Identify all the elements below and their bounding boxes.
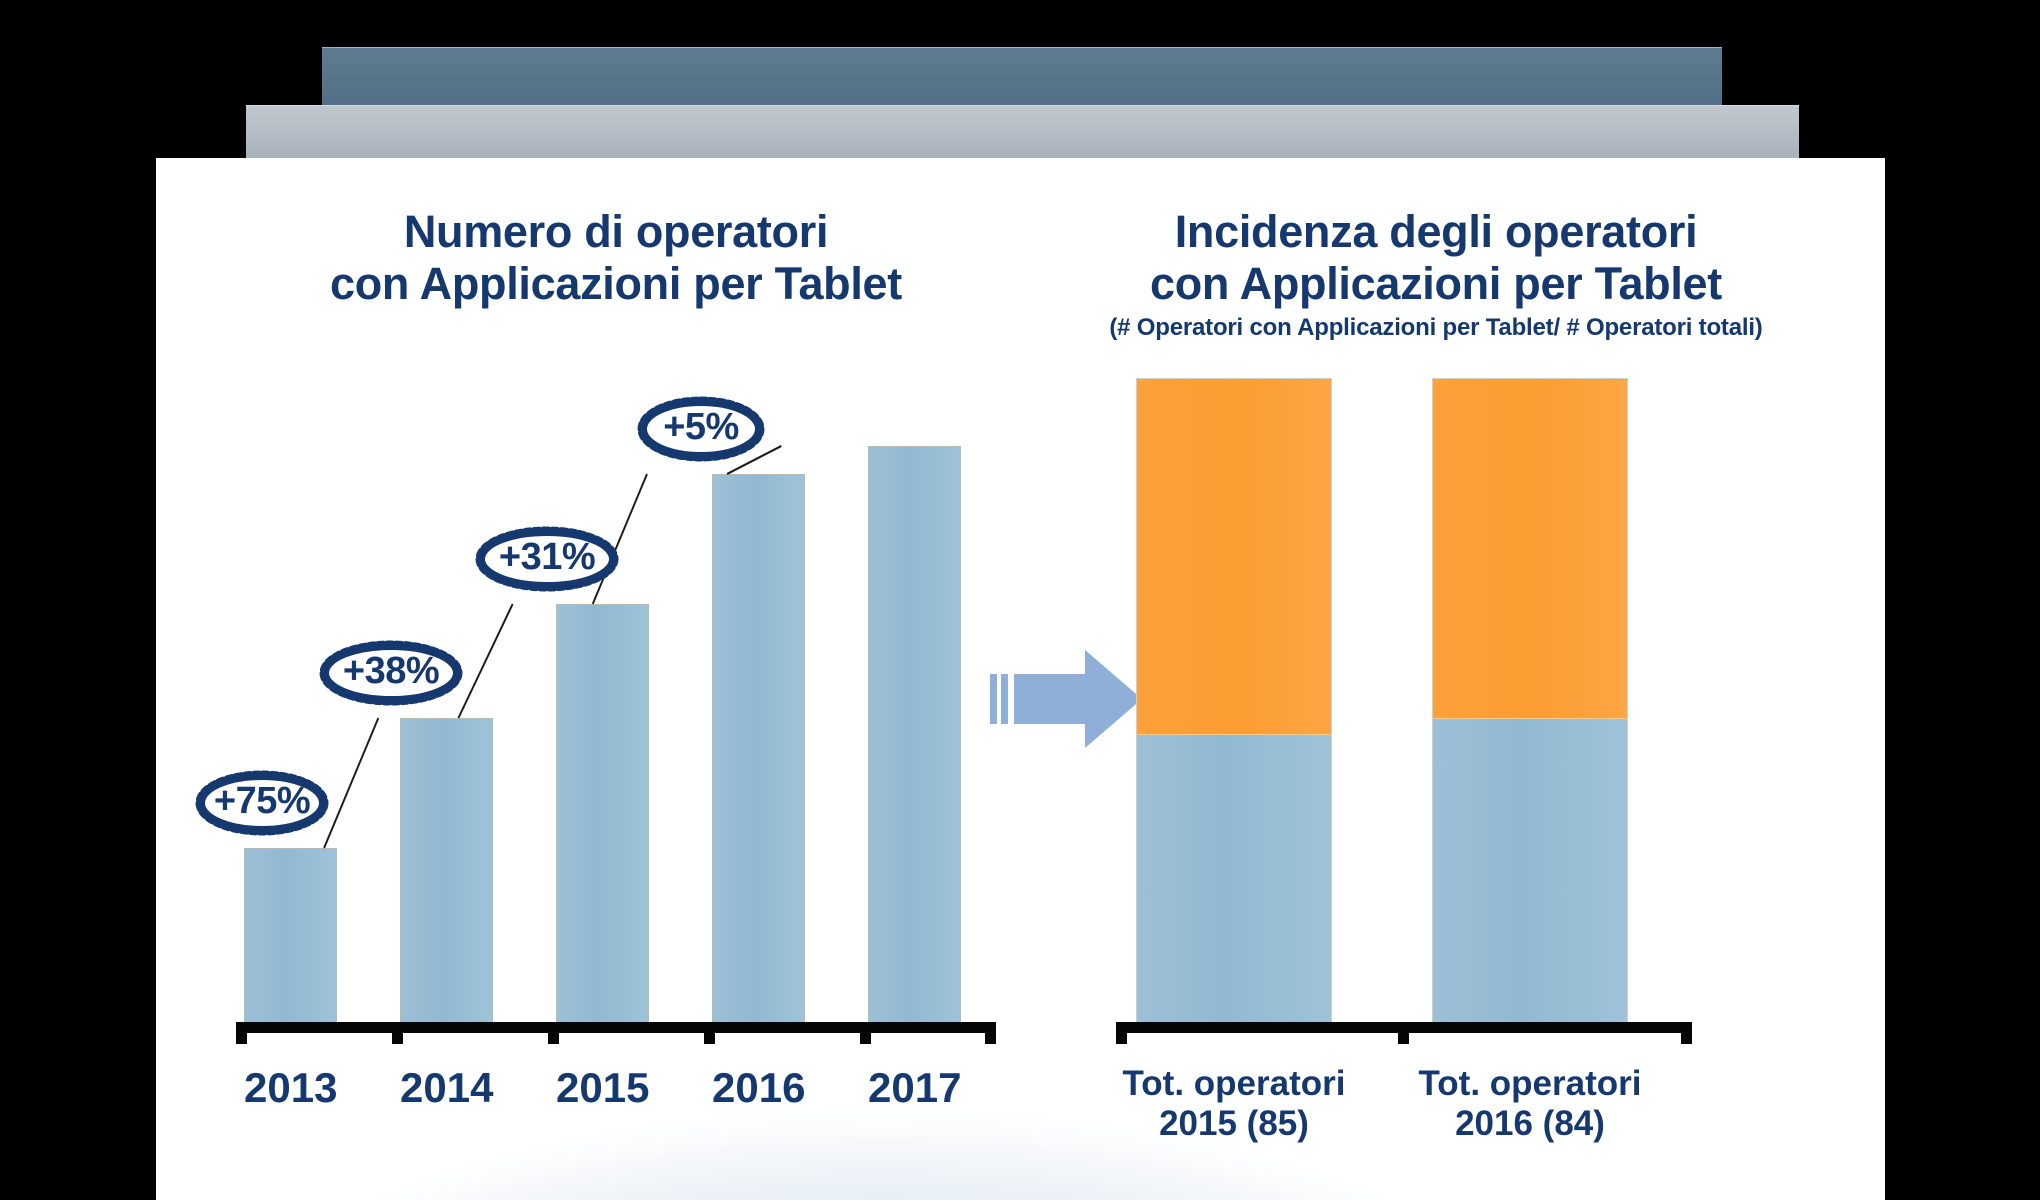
bar-2015[interactable] xyxy=(556,604,649,1022)
growth-callout-5-label: +5% xyxy=(663,406,739,452)
left-bar-chart: 2013 2014 2015 2016 2017 +75% +38% xyxy=(156,158,1016,1200)
x-label-2013: 2013 xyxy=(244,1064,337,1112)
x-label-2017: 2017 xyxy=(868,1064,961,1112)
growth-callout-75[interactable]: +75% xyxy=(192,766,332,840)
x-label-2016: 2016 xyxy=(712,1064,805,1112)
bar-2014[interactable] xyxy=(400,718,493,1022)
right-axis-tick-1 xyxy=(1398,1022,1409,1044)
stacked-bar-2015-segment-blue[interactable] xyxy=(1137,735,1331,1022)
growth-callout-38-label: +38% xyxy=(343,650,439,696)
left-axis-tick-1 xyxy=(392,1022,403,1044)
bar-2016[interactable] xyxy=(712,474,805,1022)
header-bar-dark xyxy=(322,47,1722,105)
left-axis-tick-4 xyxy=(860,1022,871,1044)
right-plot-area xyxy=(1116,378,1736,1022)
slide-root: Numero di operatori con Applicazioni per… xyxy=(0,0,2040,1200)
left-axis-tick-5 xyxy=(985,1022,996,1044)
growth-callout-31[interactable]: +31% xyxy=(472,522,622,596)
x-label-2015: 2015 xyxy=(556,1064,649,1112)
x-label-tot-operatori-2015: Tot. operatori 2015 (85) xyxy=(1104,1064,1364,1145)
growth-callout-38[interactable]: +38% xyxy=(316,636,466,710)
left-axis-tick-3 xyxy=(704,1022,715,1044)
bar-2017[interactable] xyxy=(868,446,961,1022)
growth-callout-31-label: +31% xyxy=(499,536,595,582)
left-axis-tick-0 xyxy=(236,1022,247,1044)
header-bar-light xyxy=(246,105,1799,158)
right-stacked-bar-chart: Tot. operatori 2015 (85) Tot. operatori … xyxy=(1016,158,1885,1200)
stacked-bar-2015[interactable] xyxy=(1136,378,1332,1022)
x-label-tot-operatori-2016-line1: Tot. operatori xyxy=(1400,1064,1660,1104)
left-axis-tick-2 xyxy=(548,1022,559,1044)
x-label-tot-operatori-2016: Tot. operatori 2016 (84) xyxy=(1400,1064,1660,1145)
x-label-tot-operatori-2015-line1: Tot. operatori xyxy=(1104,1064,1364,1104)
x-label-2014: 2014 xyxy=(400,1064,493,1112)
growth-callout-5[interactable]: +5% xyxy=(634,392,768,466)
stacked-bar-2016-segment-blue[interactable] xyxy=(1433,719,1627,1023)
bar-2013[interactable] xyxy=(244,848,337,1022)
content-panel: Numero di operatori con Applicazioni per… xyxy=(156,158,1885,1200)
right-axis-tick-2 xyxy=(1681,1022,1692,1044)
x-label-tot-operatori-2016-line2: 2016 (84) xyxy=(1400,1104,1660,1144)
stacked-bar-2016-segment-orange[interactable] xyxy=(1433,379,1627,719)
stacked-bar-2016[interactable] xyxy=(1432,378,1628,1022)
growth-callout-75-label: +75% xyxy=(214,780,310,826)
x-label-tot-operatori-2015-line2: 2015 (85) xyxy=(1104,1104,1364,1144)
left-x-axis xyxy=(236,1022,996,1033)
right-axis-tick-0 xyxy=(1116,1022,1127,1044)
stacked-bar-2015-segment-orange[interactable] xyxy=(1137,379,1331,735)
